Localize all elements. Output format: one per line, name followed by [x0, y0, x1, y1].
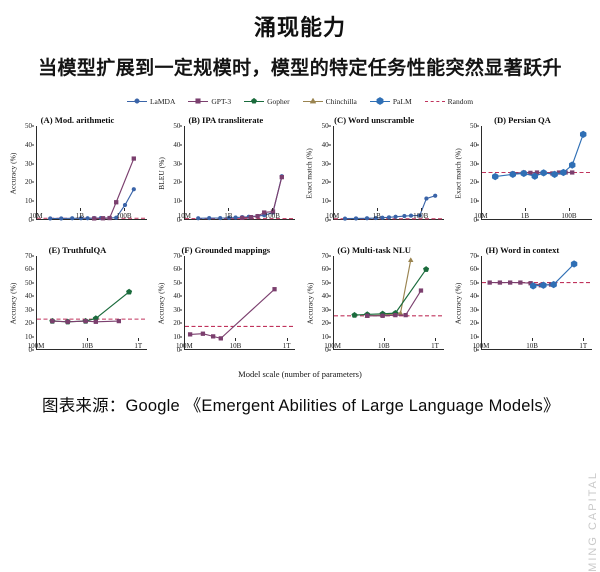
y-tick-mark — [476, 182, 479, 183]
x-tick-mark — [235, 338, 236, 341]
y-axis-ticks: 010203040506070 — [19, 256, 34, 350]
y-axis-label-text: Accuracy (%) — [157, 282, 166, 324]
x-tick-mark — [272, 208, 273, 211]
plot-canvas — [334, 256, 444, 349]
x-tick-label: 10M — [326, 212, 339, 220]
x-tick-label: 100B — [265, 212, 280, 220]
x-tick-mark — [377, 208, 378, 211]
legend-swatch-palm-icon — [370, 97, 390, 106]
y-axis-label-text: Exact match (%) — [453, 148, 462, 198]
y-tick-mark — [476, 282, 479, 283]
x-tick-label: 1B — [373, 212, 381, 220]
x-tick-label: 1T — [579, 342, 587, 350]
y-tick-mark — [180, 269, 183, 270]
legend-item-gopher[interactable]: Gopher — [244, 97, 290, 106]
data-point — [540, 282, 546, 289]
series-gpt-3 — [189, 287, 277, 340]
y-tick-mark — [328, 126, 331, 127]
legend-label: Gopher — [267, 97, 290, 106]
y-tick-mark — [180, 296, 183, 297]
data-point — [117, 319, 121, 323]
data-point — [532, 173, 538, 180]
y-tick-mark — [32, 296, 35, 297]
chart-panel-e: (E) TruthfulQAAccuracy (%)01020304050607… — [6, 244, 149, 360]
y-tick-mark — [32, 163, 35, 164]
data-point — [94, 320, 98, 324]
plot-area-g — [333, 256, 444, 350]
y-axis-ticks: 01020304050 — [464, 126, 479, 220]
x-axis-ticks: 10M1B100B — [333, 208, 444, 222]
data-point — [498, 281, 502, 285]
series-line — [354, 269, 426, 315]
plot-area-b — [184, 126, 295, 220]
y-axis-label-text: Exact match (%) — [305, 148, 314, 198]
x-tick-label: 1B — [224, 212, 232, 220]
y-tick-mark — [328, 296, 331, 297]
x-tick-label: 1B — [521, 212, 529, 220]
data-point — [189, 333, 193, 337]
y-axis-label-text: Accuracy (%) — [305, 282, 314, 324]
chart-panel-h: (H) Word in contextAccuracy (%)010203040… — [451, 244, 594, 360]
x-tick-label: 100B — [413, 212, 428, 220]
y-tick-mark — [32, 182, 35, 183]
y-tick-mark — [180, 336, 183, 337]
y-axis-ticks: 010203040506070 — [464, 256, 479, 350]
series-line — [52, 292, 129, 322]
y-tick-mark — [180, 256, 183, 257]
source-attribution: 图表来源：Google 《Emergent Abilities of Large… — [0, 392, 600, 416]
legend-item-palm[interactable]: PaLM — [370, 97, 412, 106]
y-tick-mark — [476, 309, 479, 310]
y-tick-mark — [32, 126, 35, 127]
plot-canvas — [482, 126, 592, 219]
data-point — [508, 281, 512, 285]
x-tick-label: 10B — [526, 342, 538, 350]
x-tick-label: 10B — [81, 342, 93, 350]
x-tick-mark — [481, 208, 482, 211]
legend-label: Random — [448, 97, 473, 106]
y-axis-ticks: 01020304050 — [316, 126, 331, 220]
y-tick-mark — [32, 309, 35, 310]
data-point — [380, 314, 384, 318]
series-gopher — [351, 266, 428, 317]
x-tick-mark — [532, 338, 533, 341]
y-tick-mark — [180, 144, 183, 145]
x-tick-label: 10B — [230, 342, 242, 350]
y-tick-mark — [476, 256, 479, 257]
data-point — [365, 314, 369, 318]
y-tick-mark — [476, 336, 479, 337]
chart-panel-a: (A) Mod. arithmeticAccuracy (%)010203040… — [6, 114, 149, 230]
chart-panel-d: (D) Persian QAExact match (%)01020304050… — [451, 114, 594, 230]
series-line — [367, 260, 410, 316]
y-tick-mark — [328, 144, 331, 145]
data-point — [580, 131, 586, 138]
plot-area-e — [36, 256, 147, 350]
y-tick-mark — [476, 126, 479, 127]
x-tick-mark — [384, 338, 385, 341]
x-axis-ticks: 100M10B1T — [481, 338, 592, 352]
x-tick-mark — [80, 208, 81, 211]
x-tick-label: 10M — [474, 212, 487, 220]
x-tick-mark — [138, 338, 139, 341]
x-tick-label: 100M — [176, 342, 193, 350]
plot-canvas — [482, 256, 592, 349]
data-point — [50, 319, 54, 323]
chart-grid: (A) Mod. arithmeticAccuracy (%)010203040… — [0, 114, 600, 360]
x-tick-mark — [435, 338, 436, 341]
x-tick-mark — [87, 338, 88, 341]
data-point — [66, 320, 70, 324]
y-tick-mark — [180, 201, 183, 202]
y-tick-mark — [476, 201, 479, 202]
data-point — [423, 266, 429, 271]
x-axis-ticks: 10M1B100B — [184, 208, 295, 222]
y-axis-label: Accuracy (%) — [154, 256, 168, 350]
y-axis-label-text: BLEU (%) — [157, 157, 166, 190]
legend-item-chinchilla[interactable]: Chinchilla — [303, 97, 357, 106]
slide-root: 涌现能力 当模型扩展到一定规模时，模型的特定任务性能突然显著跃升 LaMDAGP… — [0, 0, 600, 416]
y-tick-mark — [476, 296, 479, 297]
x-tick-mark — [333, 338, 334, 341]
x-axis-ticks: 100M10B1T — [333, 338, 444, 352]
y-axis-label: Exact match (%) — [303, 126, 317, 220]
data-point — [114, 200, 118, 204]
x-tick-label: 100B — [561, 212, 576, 220]
data-point — [273, 287, 277, 291]
y-tick-mark — [328, 201, 331, 202]
chart-panel-g: (G) Multi-task NLUAccuracy (%)0102030405… — [303, 244, 446, 360]
x-tick-label: 100M — [324, 342, 341, 350]
data-point — [433, 194, 437, 198]
legend-label: Chinchilla — [326, 97, 357, 106]
legend-swatch-gpt-3-icon — [188, 97, 208, 106]
shared-x-axis-caption: Model scale (number of parameters) — [0, 369, 600, 379]
data-point — [521, 170, 527, 177]
y-tick-mark — [476, 144, 479, 145]
y-axis-label-text: Accuracy (%) — [453, 282, 462, 324]
y-axis-label-text: Accuracy (%) — [9, 282, 18, 324]
y-tick-mark — [328, 269, 331, 270]
y-axis-ticks: 01020304050 — [19, 126, 34, 220]
watermark-text: MING CAPITAL — [587, 471, 599, 572]
x-tick-mark — [287, 338, 288, 341]
x-axis-ticks: 100M10B1T — [36, 338, 147, 352]
plot-canvas — [37, 126, 147, 219]
x-tick-mark — [184, 338, 185, 341]
y-tick-mark — [180, 163, 183, 164]
x-tick-mark — [333, 208, 334, 211]
plot-canvas — [37, 256, 147, 349]
y-axis-label: Accuracy (%) — [451, 256, 465, 350]
data-point — [510, 171, 516, 178]
y-tick-mark — [476, 163, 479, 164]
data-point — [403, 313, 407, 317]
x-tick-label: 1T — [431, 342, 439, 350]
y-tick-mark — [476, 269, 479, 270]
data-point — [424, 197, 428, 201]
plot-area-f — [184, 256, 295, 350]
x-tick-label: 100B — [116, 212, 131, 220]
data-point — [518, 281, 522, 285]
legend-item-random[interactable]: Random — [425, 97, 473, 106]
chart-panel-f: (F) Grounded mappingsAccuracy (%)0102030… — [154, 244, 297, 360]
x-tick-label: 100M — [28, 342, 45, 350]
x-tick-mark — [421, 208, 422, 211]
y-axis-label-text: Accuracy (%) — [9, 152, 18, 194]
data-point — [488, 281, 492, 285]
y-axis-ticks: 010203040506070 — [167, 256, 182, 350]
x-tick-mark — [583, 338, 584, 341]
plot-area-c — [333, 126, 444, 220]
x-tick-mark — [228, 208, 229, 211]
data-point — [132, 157, 136, 161]
y-tick-mark — [328, 282, 331, 283]
chart-row-top: (A) Mod. arithmeticAccuracy (%)010203040… — [6, 114, 594, 230]
chart-row-bottom: (E) TruthfulQAAccuracy (%)01020304050607… — [6, 244, 594, 360]
legend-swatch-chinchilla-icon — [303, 97, 323, 106]
y-tick-mark — [32, 269, 35, 270]
x-tick-label: 100M — [473, 342, 490, 350]
data-point — [351, 312, 357, 317]
x-tick-mark — [481, 338, 482, 341]
y-axis-label: Accuracy (%) — [6, 126, 20, 220]
series-chinchilla — [365, 258, 413, 318]
y-tick-mark — [32, 282, 35, 283]
x-tick-label: 10M — [178, 212, 191, 220]
legend-item-gpt-3[interactable]: GPT-3 — [188, 97, 231, 106]
y-tick-mark — [32, 323, 35, 324]
legend-swatch-gopher-icon — [244, 97, 264, 106]
x-tick-label: 10B — [378, 342, 390, 350]
y-tick-mark — [328, 182, 331, 183]
y-tick-mark — [32, 336, 35, 337]
data-point — [569, 162, 575, 169]
plot-canvas — [185, 126, 295, 219]
chart-panel-c: (C) Word unscrambleExact match (%)010203… — [303, 114, 446, 230]
data-point — [123, 203, 127, 207]
x-tick-mark — [184, 208, 185, 211]
data-point — [393, 313, 397, 317]
x-tick-mark — [124, 208, 125, 211]
y-tick-mark — [180, 182, 183, 183]
plot-canvas — [334, 126, 444, 219]
data-point — [201, 332, 205, 336]
data-point — [530, 283, 536, 290]
y-tick-mark — [180, 309, 183, 310]
y-axis-ticks: 010203040506070 — [316, 256, 331, 350]
data-point — [571, 261, 577, 268]
y-axis-label: Accuracy (%) — [6, 256, 20, 350]
x-axis-ticks: 10M1B100B — [481, 208, 592, 222]
data-point — [408, 258, 413, 262]
series-gpt-3 — [365, 289, 423, 318]
data-point — [84, 319, 88, 323]
legend-item-lamda[interactable]: LaMDA — [127, 97, 175, 106]
data-point — [132, 187, 136, 191]
plot-canvas — [185, 256, 295, 349]
y-tick-mark — [476, 323, 479, 324]
series-line — [190, 289, 274, 338]
data-point — [126, 289, 132, 294]
y-tick-mark — [32, 201, 35, 202]
x-tick-mark — [36, 338, 37, 341]
legend-label: PaLM — [393, 97, 412, 106]
plot-area-a — [36, 126, 147, 220]
x-axis-ticks: 10M1B100B — [36, 208, 147, 222]
data-point — [541, 169, 547, 176]
series-gpt-3 — [50, 319, 120, 323]
legend-label: GPT-3 — [211, 97, 231, 106]
y-axis-label: Exact match (%) — [451, 126, 465, 220]
page-title: 涌现能力 — [0, 0, 600, 42]
data-point — [280, 175, 284, 179]
x-tick-mark — [525, 208, 526, 211]
chart-legend: LaMDAGPT-3GopherChinchillaPaLMRandom — [0, 94, 600, 108]
x-axis-ticks: 100M10B1T — [184, 338, 295, 352]
chart-panel-b: (B) IPA transliterateBLEU (%)01020304050… — [154, 114, 297, 230]
page-subtitle: 当模型扩展到一定规模时，模型的特定任务性能突然显著跃升 — [0, 42, 600, 80]
x-tick-mark — [36, 208, 37, 211]
y-tick-mark — [32, 144, 35, 145]
y-tick-mark — [328, 323, 331, 324]
y-tick-mark — [180, 126, 183, 127]
legend-swatch-lamda-icon — [127, 97, 147, 106]
series-line — [495, 134, 583, 176]
plot-area-h — [481, 256, 592, 350]
y-axis-label: BLEU (%) — [154, 126, 168, 220]
y-tick-mark — [328, 163, 331, 164]
data-point — [551, 281, 557, 288]
data-point — [492, 173, 498, 180]
data-point — [552, 171, 558, 178]
y-tick-mark — [180, 323, 183, 324]
data-point — [419, 289, 423, 293]
y-axis-label: Accuracy (%) — [303, 256, 317, 350]
data-point — [560, 169, 566, 176]
legend-label: LaMDA — [150, 97, 175, 106]
x-tick-label: 1B — [76, 212, 84, 220]
legend-swatch-random-icon — [425, 97, 445, 106]
x-tick-label: 1T — [134, 342, 142, 350]
x-tick-mark — [569, 208, 570, 211]
x-tick-label: 1T — [283, 342, 291, 350]
y-tick-mark — [328, 256, 331, 257]
data-point — [570, 171, 574, 175]
x-tick-label: 10M — [29, 212, 42, 220]
plot-area-d — [481, 126, 592, 220]
y-tick-mark — [32, 256, 35, 257]
y-tick-mark — [328, 309, 331, 310]
y-axis-ticks: 01020304050 — [167, 126, 182, 220]
y-tick-mark — [328, 336, 331, 337]
y-tick-mark — [180, 282, 183, 283]
